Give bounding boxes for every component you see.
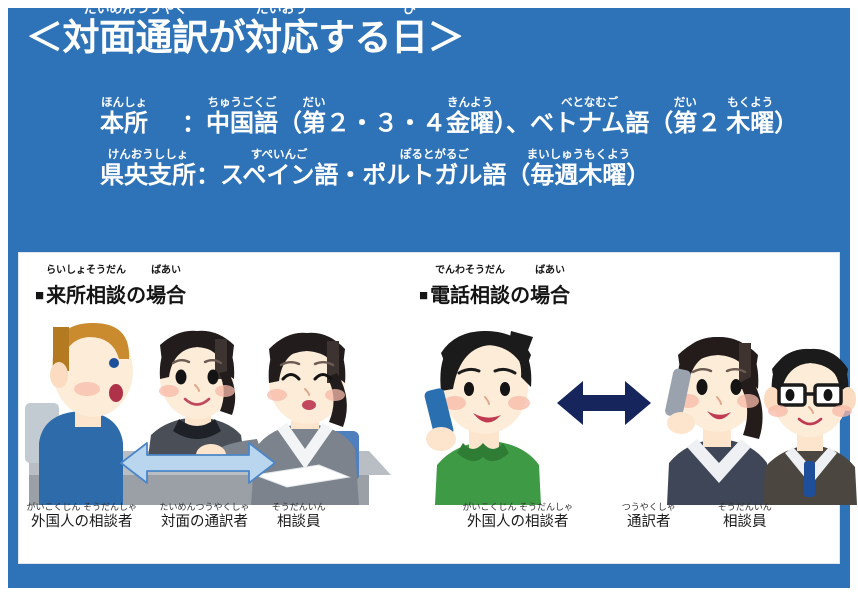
kenou-lang2-furigana: ぽるとがるご [400,150,469,162]
p1-blush [74,382,100,396]
label-phone-foreign-consultant-furigana: がいこくじん そうだんしゃ [462,503,573,512]
kenou-freq-furigana: まいしゅうもくよう [527,150,631,162]
honsho-numbers: ２・３・４ [326,110,446,137]
telephone-furigana-2: ばあい [535,266,565,276]
title-furigana-3: ひ [403,2,416,15]
section-heading-in-person: ■らいしょそうだん来所相談のばあい場合 [35,279,186,308]
honsho-dai1-group: だい第 [302,112,326,136]
label-foreign-consultant: がいこくじん そうだんしゃ外国人の相談者 [31,515,133,530]
in-person-ruby-group-1: らいしょそうだん来所相談 [46,279,126,308]
content-panel: ■らいしょそうだん来所相談のばあい場合 [18,252,840,564]
telephone-scene-svg [411,315,841,505]
kenou-lang1-furigana: すぺいんご [251,150,308,162]
p1-mouth [109,384,123,402]
honsho-lang2-label: ベトナム語 [530,110,649,137]
telephone-ruby-group-2: ばあい場合 [530,279,570,308]
telephone-ruby-group-1: でんわそうだん電話相談 [430,279,510,308]
honsho-dai1-label: 第 [302,110,326,137]
honsho-day1-group: きんよう金曜 [446,112,494,136]
in-person-furigana-2: ばあい [151,266,181,276]
honsho-paren-close-2: ） [774,110,798,137]
honsho-paren-open-2: （ [649,110,673,137]
honsho-paren-close-1: ） [494,110,506,137]
telephone-base-1: 電話相談 [430,285,510,307]
kenou-colon: ： [196,162,220,189]
honsho-dai2-label: 第 [673,110,697,137]
schedule-line-honsho: ほんしょ本所：ちゅうごくご中国語（だい第２・３・４きんよう金曜）、べとなむごベト… [100,112,798,136]
honsho-place-group: ほんしょ本所 [100,112,148,136]
schedule-line-kenou: けんおうししょ県央支所：すぺいんごスペイン語・ぽるとがるごポルトガル語（まいしゅ… [100,164,798,188]
title-particle-ga: が [209,17,246,58]
label-phone-counselor: そうだんいん相談員 [723,515,767,530]
in-person-ruby-group-2: ばあい場合 [146,279,186,308]
label-phone-counselor-group: そうだんいん相談員 [723,515,767,530]
title-base-2: 対応 [245,17,318,58]
honsho-dai1-furigana: だい [303,98,326,110]
kenou-paren-close: ） [626,162,650,189]
honsho-place-furigana: ほんしょ [101,98,147,110]
title-text: ＜たいめんつうやく対面通訳がたいおう対応するひ日＞ [26,18,464,57]
label-phone-foreign-consultant: がいこくじん そうだんしゃ外国人の相談者 [467,515,569,530]
in-person-scene-svg [19,315,419,505]
label-in-person-counselor-group: そうだんいん相談員 [277,515,321,530]
label-phone-counselor-furigana: そうだんいん [718,503,772,512]
title-open-bracket: ＜ [26,17,63,58]
kenou-dot: ・ [338,162,362,189]
pb-eye-right [731,379,742,395]
honsho-day2-group: もくよう木曜 [726,112,774,136]
telephone-furigana-1: でんわそうだん [435,266,505,276]
label-phone-foreign-consultant-text: 外国人の相談者 [467,514,569,530]
in-person-base-2: 場合 [146,285,186,307]
kenou-lang2-label: ポルトガル語 [362,162,506,189]
kenou-freq-label: 毎週木曜 [530,162,626,189]
p3-blush-left [267,389,287,401]
title-suru: する [318,17,391,58]
label-phone-counselor-text: 相談員 [723,514,767,530]
pc-eye-left [786,389,795,401]
honsho-dai2-furigana: だい [674,98,697,110]
title-ruby-group-2: たいおう対応 [245,18,318,57]
page-title: ＜たいめんつうやく対面通訳がたいおう対応するひ日＞ [26,18,464,57]
pc-eye-right [824,389,833,401]
in-person-no: の [126,285,146,307]
honsho-day2-label: 木曜 [726,110,774,137]
honsho-lang1-furigana: ちゅうごくご [208,98,277,110]
label-phone-foreign-consultant-group: がいこくじん そうだんしゃ外国人の相談者 [467,515,569,530]
p1-eye [109,358,119,368]
title-close-bracket: ＞ [428,17,465,58]
role-labels-telephone: がいこくじん そうだんしゃ外国人の相談者 つうやくしゃ通訳者 そうだんいん相談員 [411,515,841,549]
title-ruby-group-1: たいめんつうやく対面通訳 [63,18,209,57]
kenou-place-group: けんおうししょ県央支所 [100,164,196,188]
bullet-square-icon: ■ [35,287,44,304]
title-base-1: 対面通訳 [63,17,209,58]
slide-root: ＜たいめんつうやく対面通訳がたいおう対応するひ日＞ ほんしょ本所：ちゅうごくご中… [0,0,858,596]
label-foreign-consultant-group: がいこくじん そうだんしゃ外国人の相談者 [31,515,133,530]
schedule-info: ほんしょ本所：ちゅうごくご中国語（だい第２・３・４きんよう金曜）、べとなむごベト… [100,112,798,188]
two-way-arrow-dark-shape [557,381,651,425]
honsho-num2: ２ [697,110,721,137]
honsho-comma: 、 [506,110,530,137]
label-in-person-interpreter-text: 対面の通訳者 [161,514,248,530]
honsho-lang1-group: ちゅうごくご中国語 [206,112,278,136]
phone-person-interpreter [664,337,769,505]
title-furigana-1: たいめんつうやく [83,2,187,15]
telephone-no: の [510,285,530,307]
label-phone-interpreter-text: 通訳者 [627,514,671,530]
label-in-person-counselor: そうだんいん相談員 [277,515,321,530]
pa-hand [426,427,456,451]
honsho-paren-open-1: （ [278,110,302,137]
illustration-telephone [411,315,841,505]
kenou-place-label: 県央支所 [100,162,196,189]
kenou-freq-group: まいしゅうもくよう毎週木曜 [530,164,626,188]
in-person-base-1: 来所相談 [46,285,126,307]
title-base-3: 日 [391,17,428,58]
p2-eye-left [176,370,187,385]
bullet-square-icon-2: ■ [419,287,428,304]
p3-mouth [302,400,316,410]
p2-blush-right [215,385,235,397]
label-phone-interpreter: つうやくしゃ通訳者 [627,515,671,530]
role-labels-in-person: がいこくじん そうだんしゃ外国人の相談者 たいめんつうやくしゃ対面の通訳者 そう… [19,515,419,549]
label-foreign-consultant-furigana: がいこくじん そうだんしゃ [26,503,137,512]
kenou-paren-open: （ [506,162,530,189]
honsho-dai2-group: だい第 [673,112,697,136]
honsho-day1-label: 金曜 [446,110,494,137]
telephone-base-2: 場合 [530,285,570,307]
honsho-lang1-label: 中国語 [206,110,278,137]
pb-blush-right [737,394,759,408]
pc-blush-left [768,405,788,417]
p2-eye-right [208,370,219,385]
kenou-lang1-label: スペイン語 [220,162,338,189]
label-phone-interpreter-group: つうやくしゃ通訳者 [627,515,671,530]
kenou-lang2-group: ぽるとがるごポルトガル語 [362,164,506,188]
panel-telephone: ■でんわそうだん電話相談のばあい場合 [411,253,841,563]
kenou-place-furigana: けんおうししょ [108,150,189,162]
pb-hand [667,412,695,434]
honsho-colon: ： [182,110,206,137]
panel-in-person: ■らいしょそうだん来所相談のばあい場合 [19,253,419,563]
pa-eye-left [464,382,474,396]
p3-blush-right [325,389,345,401]
two-way-arrow-dark-icon [557,381,651,425]
label-in-person-counselor-furigana: そうだんいん [272,503,326,512]
label-foreign-consultant-text: 外国人の相談者 [31,514,133,530]
section-heading-telephone: ■でんわそうだん電話相談のばあい場合 [419,279,570,308]
honsho-day1-furigana: きんよう [447,98,493,110]
honsho-lang2-group: べとなむごベトナム語 [530,112,649,136]
pa-blush-right [508,396,530,410]
pc-necktie [804,461,815,497]
title-ruby-group-3: ひ日 [391,18,428,57]
honsho-lang2-furigana: べとなむご [561,98,618,110]
p2-blush-left [159,385,179,397]
pc-blush-right [832,405,852,417]
label-in-person-interpreter-group: たいめんつうやくしゃ対面の通訳者 [161,515,248,530]
pb-eye-left [697,379,708,395]
pa-eye-right [500,382,510,396]
honsho-day2-furigana: もくよう [727,98,773,110]
in-person-furigana-1: らいしょそうだん [46,266,126,276]
phone-person-foreign-consultant [423,331,541,505]
title-furigana-2: たいおう [255,2,307,15]
label-in-person-interpreter: たいめんつうやくしゃ対面の通訳者 [161,515,248,530]
kenou-lang1-group: すぺいんごスペイン語 [220,164,338,188]
p1-ear [50,362,68,388]
label-in-person-counselor-text: 相談員 [277,514,321,530]
label-in-person-interpreter-furigana: たいめんつうやくしゃ [159,503,249,512]
label-phone-interpreter-furigana: つうやくしゃ [622,503,676,512]
illustration-in-person [19,315,419,505]
honsho-place-label: 本所 [100,110,148,137]
